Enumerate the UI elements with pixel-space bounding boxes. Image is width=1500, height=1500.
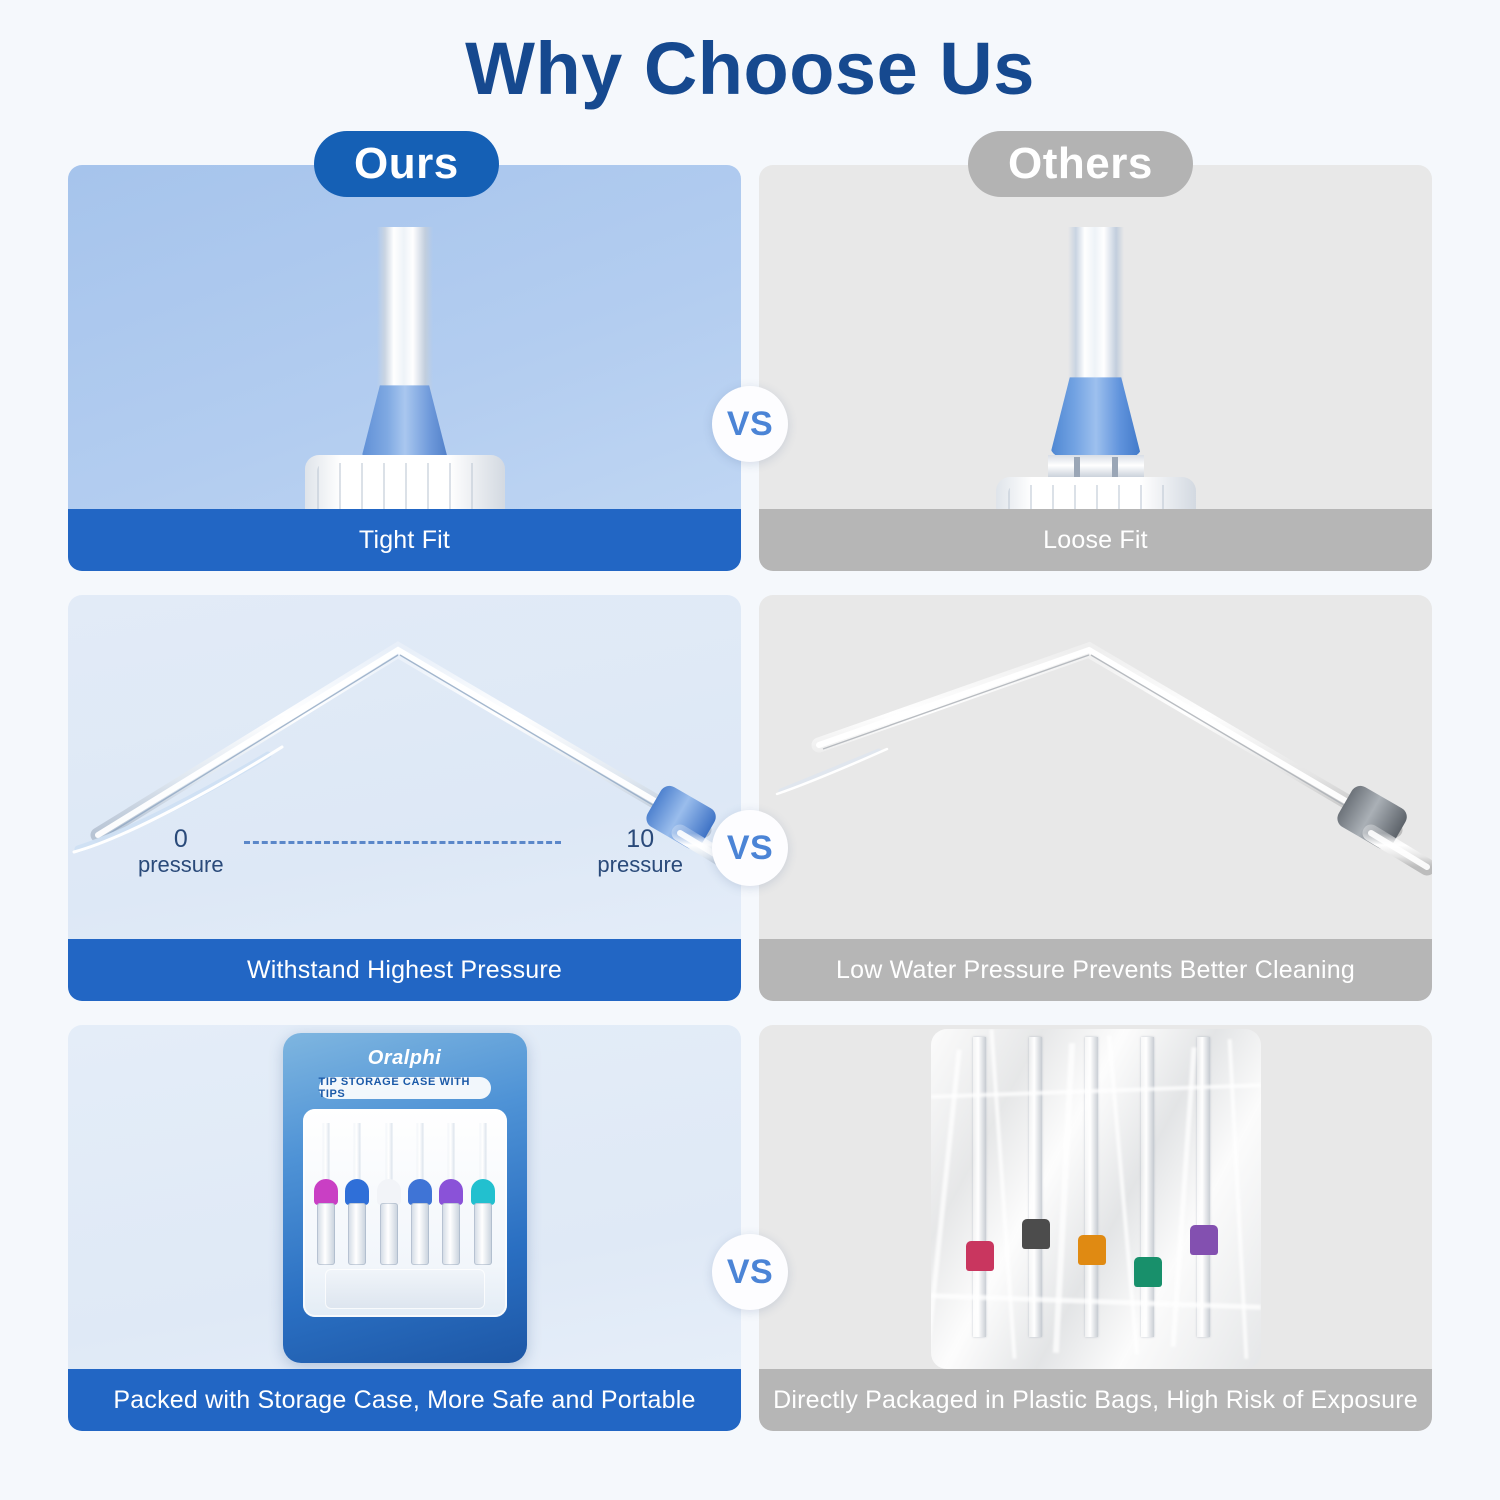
caption-ours-fit: Tight Fit <box>68 509 741 571</box>
package-base <box>325 1269 485 1309</box>
caption-ours-packaging: Packed with Storage Case, More Safe and … <box>68 1369 741 1431</box>
scale-min-value: 0 <box>138 827 224 852</box>
tip-item <box>377 1123 401 1273</box>
tip-item <box>408 1123 432 1273</box>
cell-others-packaging: Directly Packaged in Plastic Bags, High … <box>759 1025 1432 1431</box>
bag-tip <box>1190 1225 1218 1255</box>
water-wand-icon: 0 pressure 10 pressure <box>68 595 741 939</box>
cell-ours-packaging: Oralphi TIP STORAGE CASE WITH TIPS <box>68 1025 741 1431</box>
package-subtitle: TIP STORAGE CASE WITH TIPS <box>319 1077 491 1099</box>
tip-row <box>311 1123 499 1273</box>
vs-badge-icon: VS <box>712 1234 788 1310</box>
water-wand-icon <box>759 595 1432 939</box>
wand-graphic <box>759 595 1432 939</box>
tip-item <box>314 1123 338 1273</box>
cell-ours-fit: Tight Fit <box>68 165 741 571</box>
tip-item <box>471 1123 495 1273</box>
scale-min: 0 pressure <box>138 827 224 878</box>
badge-others: Others <box>968 131 1193 197</box>
plastic-bag <box>931 1029 1261 1369</box>
bag-tip <box>966 1241 994 1271</box>
tip-item <box>345 1123 369 1273</box>
cell-others-pressure: Low Water Pressure Prevents Better Clean… <box>759 595 1432 1001</box>
comparison-infographic: Why Choose Us Ours Others Tight Fit <box>0 0 1500 1500</box>
tip-item <box>439 1123 463 1273</box>
vs-badge-icon: VS <box>712 386 788 462</box>
nozzle-icon <box>68 165 741 509</box>
badge-ours: Ours <box>314 131 499 197</box>
pressure-scale: 0 pressure 10 pressure <box>128 827 683 881</box>
cell-others-fit: Loose Fit <box>759 165 1432 571</box>
scale-min-label: pressure <box>138 852 224 878</box>
scale-max-label: pressure <box>597 852 683 878</box>
wand-graphic <box>68 595 741 939</box>
package-icon: Oralphi TIP STORAGE CASE WITH TIPS <box>68 1025 741 1369</box>
caption-ours-pressure: Withstand Highest Pressure <box>68 939 741 1001</box>
package-window <box>303 1109 507 1317</box>
cell-ours-pressure: 0 pressure 10 pressure Withstand Highest… <box>68 595 741 1001</box>
blister-package: Oralphi TIP STORAGE CASE WITH TIPS <box>283 1033 527 1363</box>
bag-tip <box>1078 1235 1106 1265</box>
page-title: Why Choose Us <box>0 0 1500 109</box>
vs-badge-icon: VS <box>712 810 788 886</box>
caption-others-pressure: Low Water Pressure Prevents Better Clean… <box>759 939 1432 1001</box>
caption-others-fit: Loose Fit <box>759 509 1432 571</box>
nozzle-icon <box>759 165 1432 509</box>
bag-tip <box>1022 1219 1050 1249</box>
caption-others-packaging: Directly Packaged in Plastic Bags, High … <box>759 1369 1432 1431</box>
bag-tip <box>1134 1257 1162 1287</box>
scale-max: 10 pressure <box>597 827 683 878</box>
scale-max-value: 10 <box>597 827 683 852</box>
package-brand: Oralphi <box>283 1047 527 1070</box>
scale-dashed-line <box>244 841 561 844</box>
plastic-bag-icon <box>759 1025 1432 1369</box>
